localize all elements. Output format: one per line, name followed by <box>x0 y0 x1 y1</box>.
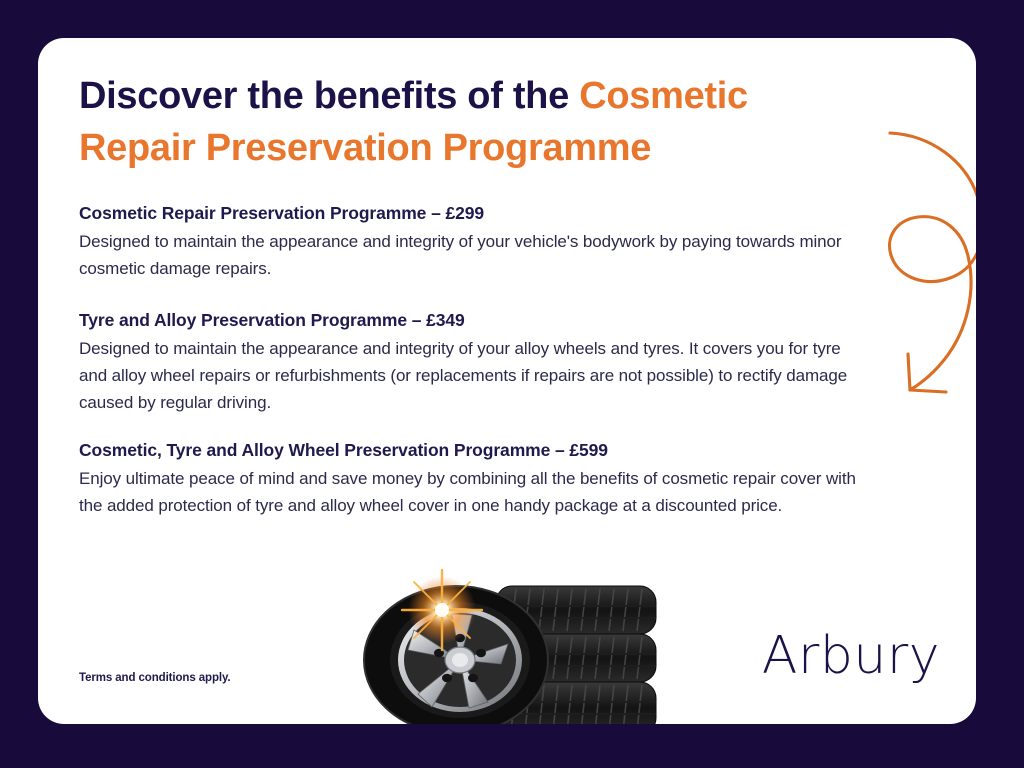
tyre-stack-image <box>348 558 678 724</box>
programme-body-tyre: Designed to maintain the appearance and … <box>79 335 869 416</box>
programme-body-combo: Enjoy ultimate peace of mind and save mo… <box>79 465 869 519</box>
programme-body-cosmetic: Designed to maintain the appearance and … <box>79 228 869 282</box>
programme-section-combo: Cosmetic, Tyre and Alloy Wheel Preservat… <box>79 438 869 519</box>
programme-section-tyre: Tyre and Alloy Preservation Programme – … <box>79 308 869 416</box>
promo-card: Discover the benefits of the Cosmetic Re… <box>38 38 976 724</box>
programme-title-combo: Cosmetic, Tyre and Alloy Wheel Preservat… <box>79 438 869 462</box>
programme-section-cosmetic: Cosmetic Repair Preservation Programme –… <box>79 201 869 282</box>
headline-lead: Discover the benefits of the <box>79 75 579 117</box>
page-title: Discover the benefits of the Cosmetic Re… <box>79 70 849 174</box>
terms-and-conditions: Terms and conditions apply. <box>79 672 231 684</box>
programme-title-tyre: Tyre and Alloy Preservation Programme – … <box>79 308 869 332</box>
sparkle-icon <box>402 570 482 650</box>
arbury-logo: Arbury <box>762 626 940 686</box>
programme-title-cosmetic: Cosmetic Repair Preservation Programme –… <box>79 201 869 225</box>
